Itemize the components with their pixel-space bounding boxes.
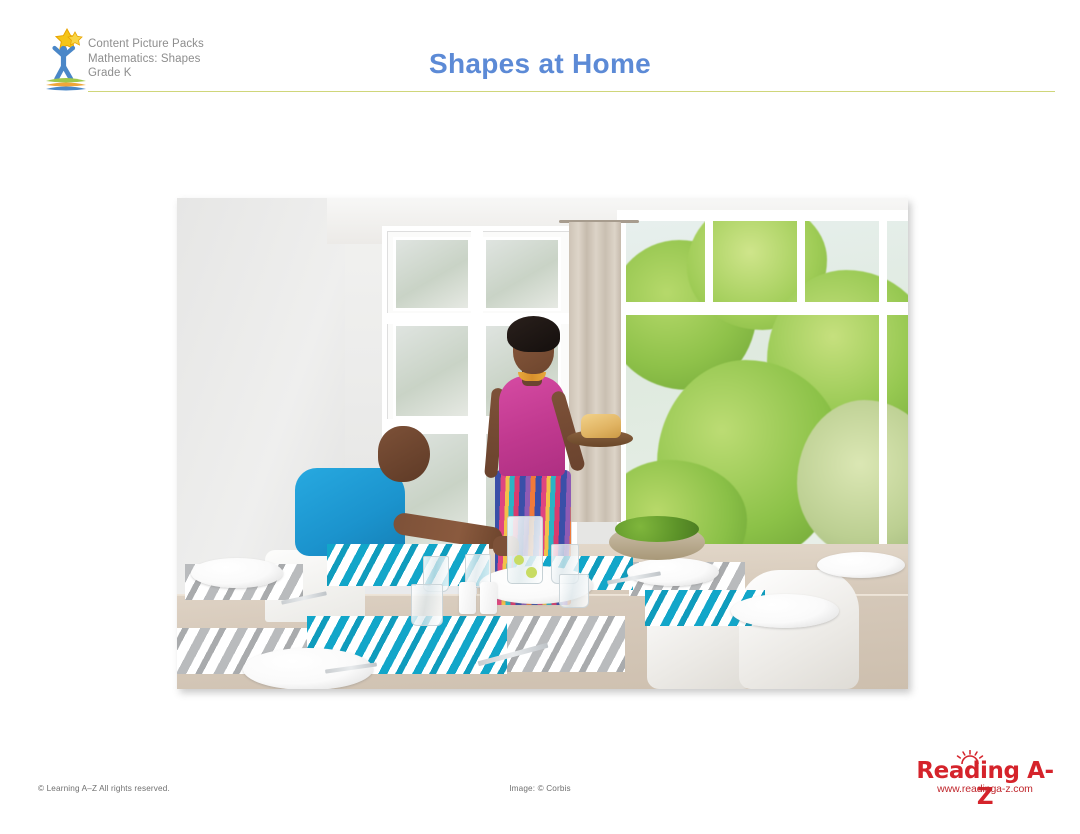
dinner-plate <box>731 594 839 628</box>
door-glass-pane <box>393 323 471 419</box>
page-title: Shapes at Home <box>0 48 1080 80</box>
window-frame-bar <box>617 302 908 315</box>
drinking-glass <box>411 584 443 626</box>
dinner-plate <box>627 558 719 586</box>
drinking-glass <box>559 574 589 608</box>
window-frame-bar <box>705 210 713 310</box>
bread-loaf <box>581 414 621 438</box>
water-pitcher <box>507 516 543 584</box>
window-frame-bar <box>617 210 908 221</box>
boy-shirt <box>295 468 405 556</box>
header-divider <box>88 91 1055 92</box>
lesson-photo <box>177 198 908 689</box>
salad <box>615 516 699 542</box>
window-frame-bar <box>797 210 805 310</box>
photo-scene <box>177 198 908 689</box>
woman-hair <box>507 316 560 352</box>
boy-head <box>378 426 430 482</box>
worksheet-page: Content Picture Packs Mathematics: Shape… <box>0 0 1080 834</box>
door-glass-pane <box>483 237 561 311</box>
reading-a-z-logo[interactable]: Reading A-Z www.readinga-z.com <box>912 750 1058 798</box>
dinner-plate <box>817 552 905 578</box>
window-frame-bar <box>879 210 887 570</box>
lime-slice <box>514 555 524 565</box>
lime-slice <box>526 567 537 578</box>
pepper-shaker <box>480 582 497 614</box>
door-glass-pane <box>393 237 471 311</box>
curtain <box>569 222 621 522</box>
reading-a-z-url: www.readinga-z.com <box>912 783 1058 795</box>
chair <box>739 570 859 689</box>
dinner-plate <box>191 558 283 588</box>
door-mullion <box>471 231 483 551</box>
page-header: Content Picture Packs Mathematics: Shape… <box>0 0 1080 96</box>
page-footer: © Learning A–Z All rights reserved. Imag… <box>0 740 1080 834</box>
salt-shaker <box>459 582 476 614</box>
